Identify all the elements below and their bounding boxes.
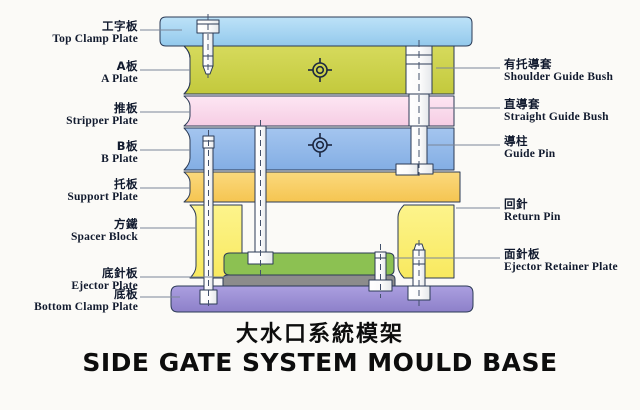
label-a-plate-en: A Plate xyxy=(101,73,138,86)
label-ejector-retainer-plate-en: Ejector Retainer Plate xyxy=(504,261,618,274)
label-a-plate-cn: A板 xyxy=(101,60,138,73)
label-b-plate-cn: B板 xyxy=(101,140,138,153)
label-b-plate: B板 B Plate xyxy=(101,140,138,166)
title-chinese: 大水口系統模架 xyxy=(0,316,640,348)
label-stripper-plate-en: Stripper Plate xyxy=(66,115,138,128)
label-support-plate-en: Support Plate xyxy=(67,191,138,204)
label-shoulder-guide-bush: 有托導套 Shoulder Guide Bush xyxy=(504,58,613,84)
label-top-clamp-plate-en: Top Clamp Plate xyxy=(52,33,138,46)
label-straight-guide-bush-cn: 直導套 xyxy=(504,98,609,111)
label-return-pin-en: Return Pin xyxy=(504,211,561,224)
label-spacer-block-cn: 方鐵 xyxy=(71,218,138,231)
label-guide-pin: 導柱 Guide Pin xyxy=(504,135,555,161)
label-guide-pin-en: Guide Pin xyxy=(504,148,555,161)
label-spacer-block: 方鐵 Spacer Block xyxy=(71,218,138,244)
label-shoulder-guide-bush-cn: 有托導套 xyxy=(504,58,613,71)
label-b-plate-en: B Plate xyxy=(101,153,138,166)
plate-support-plate xyxy=(184,172,460,202)
label-guide-pin-cn: 導柱 xyxy=(504,135,555,148)
label-spacer-block-en: Spacer Block xyxy=(71,231,138,244)
label-top-clamp-plate: 工字板 Top Clamp Plate xyxy=(52,20,138,46)
label-shoulder-guide-bush-en: Shoulder Guide Bush xyxy=(504,71,613,84)
label-a-plate: A板 A Plate xyxy=(101,60,138,86)
label-return-pin-cn: 回針 xyxy=(504,198,561,211)
label-support-plate: 托板 Support Plate xyxy=(67,178,138,204)
label-straight-guide-bush: 直導套 Straight Guide Bush xyxy=(504,98,609,124)
label-bottom-clamp-plate-en: Bottom Clamp Plate xyxy=(34,301,138,314)
label-straight-guide-bush-en: Straight Guide Bush xyxy=(504,111,609,124)
label-bottom-clamp-plate-cn: 底板 xyxy=(34,288,138,301)
label-ejector-retainer-plate: 面針板 Ejector Retainer Plate xyxy=(504,248,618,274)
label-ejector-retainer-plate-cn: 面針板 xyxy=(504,248,618,261)
label-stripper-plate-cn: 推板 xyxy=(66,102,138,115)
diagram-page: 工字板 Top Clamp Plate A板 A Plate 推板 Stripp… xyxy=(0,0,640,410)
label-bottom-clamp-plate: 底板 Bottom Clamp Plate xyxy=(34,288,138,314)
socket-head-cap-screw-support xyxy=(396,164,418,175)
title-english: SIDE GATE SYSTEM MOULD BASE xyxy=(0,348,640,377)
label-return-pin: 回針 Return Pin xyxy=(504,198,561,224)
label-support-plate-cn: 托板 xyxy=(67,178,138,191)
label-top-clamp-plate-cn: 工字板 xyxy=(52,20,138,33)
label-stripper-plate: 推板 Stripper Plate xyxy=(66,102,138,128)
label-ejector-plate-cn: 底針板 xyxy=(71,267,138,280)
